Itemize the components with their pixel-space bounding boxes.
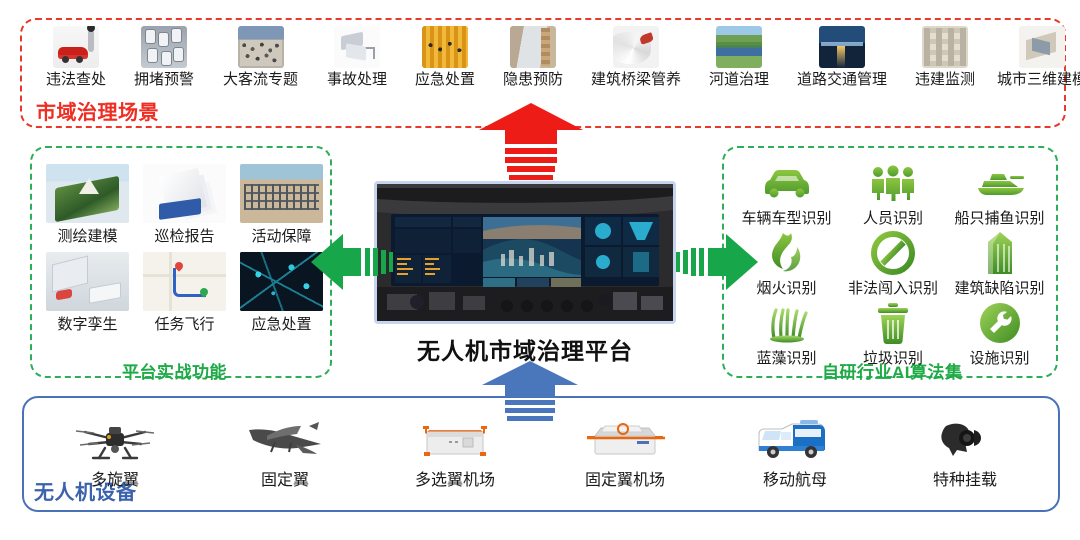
- scene-label: 违建监测: [915, 71, 975, 89]
- fixed-wing-hangar-icon: [577, 412, 673, 462]
- arrow-left-green: [311, 231, 393, 293]
- device-label: 固定翼: [261, 466, 309, 490]
- ai-algorithms-grid: 车辆车型识别 人员识别: [735, 160, 1051, 370]
- arrow-up-red: [477, 103, 585, 181]
- algae-icon: [764, 300, 810, 346]
- scene-item[interactable]: 违法查处: [32, 26, 120, 89]
- crowd-flow-icon: [238, 26, 284, 68]
- scene-label: 拥堵预警: [134, 71, 194, 89]
- scene-item[interactable]: 应急处置: [401, 26, 489, 89]
- device-label: 移动航母: [763, 466, 827, 490]
- device-item[interactable]: 多选翼机场: [370, 412, 540, 490]
- ai-label: 船只捕鱼识别: [954, 207, 1044, 228]
- multirotor-drone-icon: [69, 412, 161, 462]
- scene-item[interactable]: 河道治理: [695, 26, 783, 89]
- scene-label: 隐患预防: [503, 71, 563, 89]
- function-item[interactable]: 数字孪生: [46, 252, 129, 334]
- ai-item[interactable]: 车辆车型识别: [735, 160, 838, 228]
- scene-item[interactable]: 道路交通管理: [783, 26, 901, 89]
- ai-label: 车辆车型识别: [741, 207, 831, 228]
- scenes-row: 违法查处 拥堵预警 大客流专题 事故处理 应急处置 隐患预防 建筑桥梁管养 河: [32, 26, 1048, 96]
- command-center-video-wall: [374, 181, 676, 324]
- scene-item[interactable]: 拥堵预警: [120, 26, 208, 89]
- scene-label: 大客流专题: [223, 71, 298, 89]
- digital-twin-icon: [46, 252, 129, 311]
- ai-label: 非法闯入识别: [848, 277, 938, 298]
- river-governance-icon: [716, 26, 762, 68]
- special-payload-icon: [930, 412, 1000, 462]
- device-label: 特种挂载: [933, 466, 997, 490]
- device-item[interactable]: 固定翼机场: [540, 412, 710, 490]
- ai-item[interactable]: 船只捕鱼识别: [948, 160, 1051, 228]
- device-item[interactable]: 特种挂载: [880, 412, 1050, 490]
- function-label: 测绘建模: [57, 225, 117, 246]
- building-icon: [982, 230, 1018, 276]
- device-item[interactable]: 移动航母: [710, 412, 880, 490]
- ai-item[interactable]: 蓝藻识别: [735, 300, 838, 368]
- people-icon: [867, 160, 919, 206]
- road-traffic-icon: [819, 26, 865, 68]
- scene-item[interactable]: 事故处理: [313, 26, 401, 89]
- scene-item[interactable]: 隐患预防: [489, 26, 577, 89]
- mission-flight-icon: [143, 252, 226, 311]
- scene-item[interactable]: 违建监测: [901, 26, 989, 89]
- device-label: 多旋翼: [91, 466, 139, 490]
- scene-item[interactable]: 大客流专题: [208, 26, 313, 89]
- scene-label: 应急处置: [415, 71, 475, 89]
- arrow-up-blue: [480, 361, 580, 423]
- ai-item[interactable]: 垃圾识别: [842, 300, 945, 368]
- trash-icon: [873, 300, 913, 346]
- illegal-building-icon: [922, 26, 968, 68]
- function-label: 活动保障: [251, 225, 311, 246]
- scene-label: 事故处理: [327, 71, 387, 89]
- emergency-response-icon: [422, 26, 468, 68]
- architecture-diagram: 市域治理场景 违法查处 拥堵预警 大客流专题 事故处理 应急处置 隐患预防 建筑: [0, 0, 1080, 540]
- function-item[interactable]: 任务飞行: [143, 252, 226, 334]
- inspection-report-icon: [143, 164, 226, 223]
- mobile-carrier-icon: [745, 412, 845, 462]
- ai-item[interactable]: 建筑缺陷识别: [948, 230, 1051, 298]
- scene-label: 河道治理: [709, 71, 769, 89]
- accident-icon: [334, 26, 380, 68]
- bridge-maintenance-icon: [613, 26, 659, 68]
- flame-icon: [767, 230, 807, 276]
- car-icon: [761, 160, 813, 206]
- function-label: 任务飞行: [154, 313, 214, 334]
- city-3d-model-icon: [1019, 26, 1065, 68]
- ai-label: 蓝藻识别: [756, 347, 816, 368]
- scene-label: 建筑桥梁管养: [591, 71, 681, 89]
- scene-label: 违法查处: [46, 71, 106, 89]
- ai-item[interactable]: 非法闯入识别: [842, 230, 945, 298]
- event-support-icon: [240, 164, 323, 223]
- boat-icon: [972, 160, 1028, 206]
- ai-label: 垃圾识别: [863, 347, 923, 368]
- scene-label: 道路交通管理: [797, 71, 887, 89]
- ai-item[interactable]: 设施识别: [948, 300, 1051, 368]
- device-label: 固定翼机场: [585, 466, 665, 490]
- function-label: 巡检报告: [154, 225, 214, 246]
- ai-item[interactable]: 人员识别: [842, 160, 945, 228]
- function-label: 应急处置: [251, 313, 311, 334]
- scene-item[interactable]: 城市三维建模: [989, 26, 1080, 89]
- device-item[interactable]: 固定翼: [200, 412, 370, 490]
- platform-functions-label: 平台实战功能: [122, 358, 227, 383]
- arrow-right-green: [676, 231, 758, 293]
- function-item[interactable]: 测绘建模: [46, 164, 129, 246]
- ai-label: 设施识别: [969, 347, 1029, 368]
- fixed-wing-drone-icon: [237, 412, 333, 462]
- survey-modeling-icon: [46, 164, 129, 223]
- wrench-icon: [977, 300, 1023, 346]
- scene-label: 城市三维建模: [997, 71, 1080, 89]
- ai-label: 烟火识别: [756, 277, 816, 298]
- ai-label: 建筑缺陷识别: [954, 277, 1044, 298]
- platform-functions-grid: 测绘建模 巡检报告 活动保障 数字孪生 任务飞行: [46, 164, 324, 340]
- device-label: 多选翼机场: [415, 466, 495, 490]
- ai-label: 人员识别: [863, 207, 923, 228]
- devices-row: 多旋翼 固定翼: [30, 412, 1050, 490]
- traffic-jam-icon: [141, 26, 187, 68]
- function-item[interactable]: 巡检报告: [143, 164, 226, 246]
- scenes-panel-label: 市域治理场景: [36, 96, 159, 125]
- violation-vehicle-icon: [53, 26, 99, 68]
- scene-item[interactable]: 建筑桥梁管养: [577, 26, 695, 89]
- function-label: 数字孪生: [57, 313, 117, 334]
- hazard-prevention-icon: [510, 26, 556, 68]
- no-entry-icon: [871, 230, 915, 276]
- device-item[interactable]: 多旋翼: [30, 412, 200, 490]
